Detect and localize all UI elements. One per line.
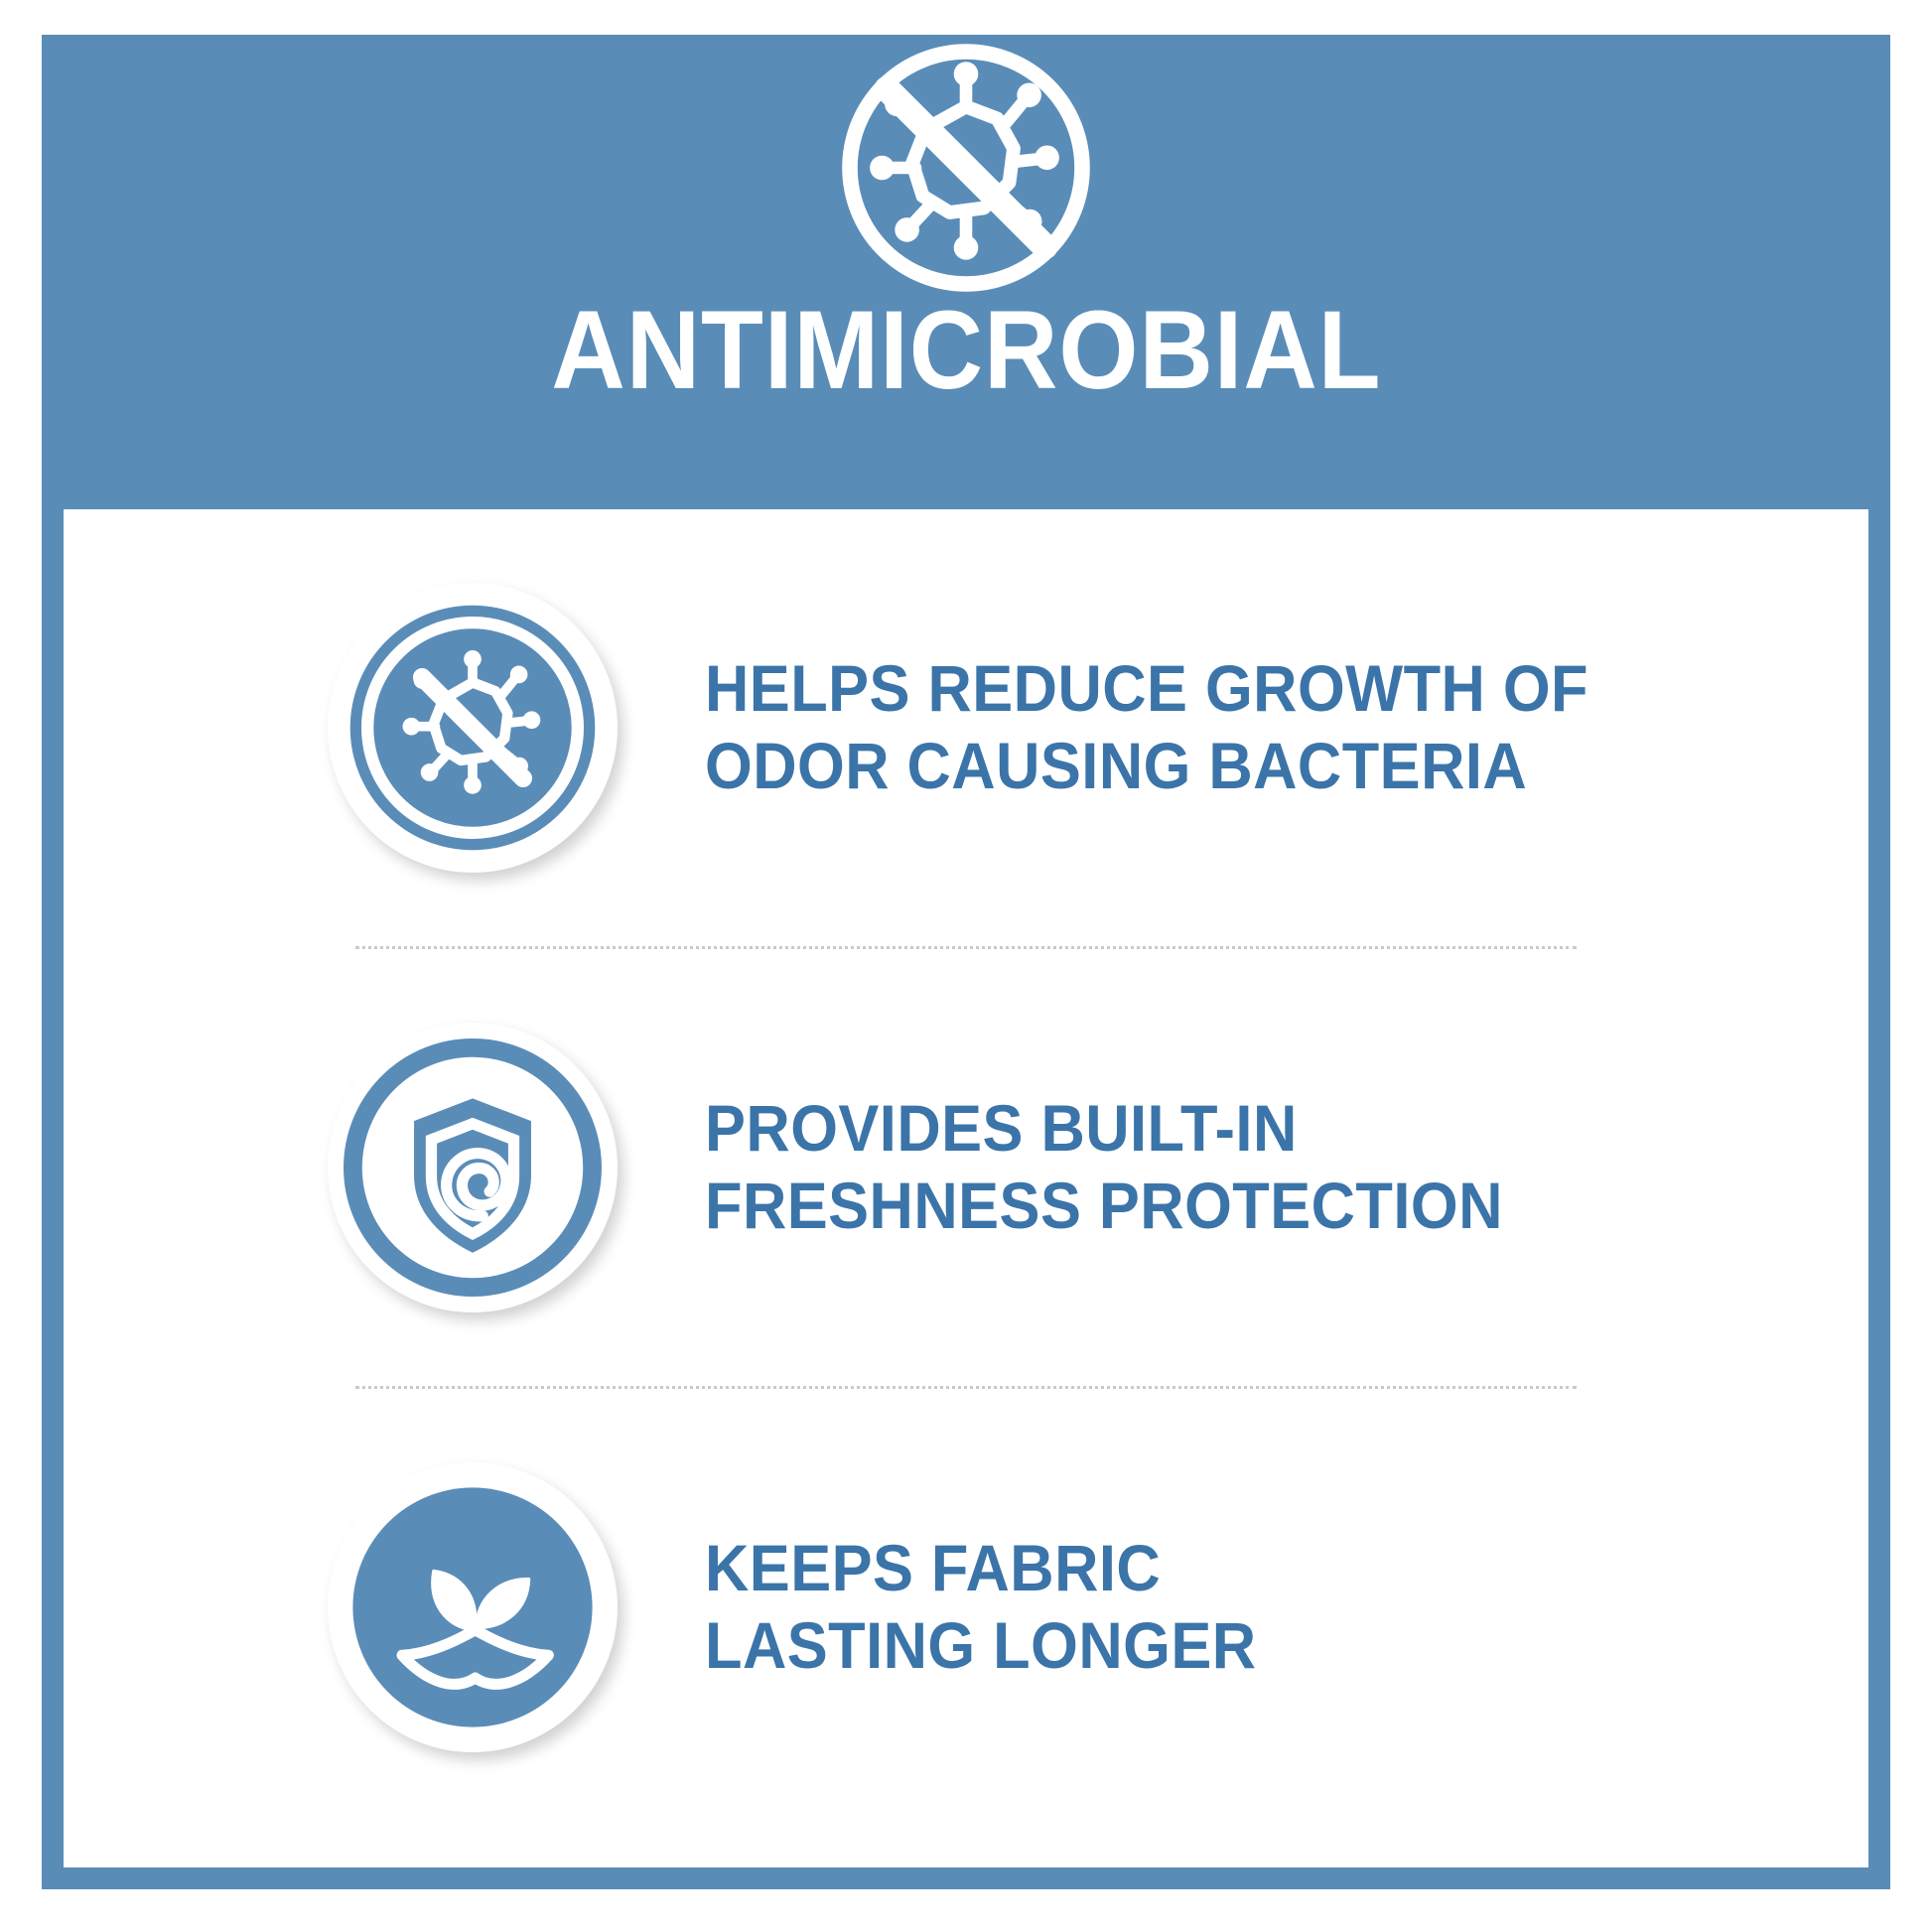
feature-text: PROVIDES BUILT-IN FRESHNESS PROTECTION [705, 1090, 1503, 1245]
feature-text-line-1: KEEPS FABRIC [705, 1530, 1257, 1607]
shield-swirl-icon [340, 1035, 606, 1301]
feature-text: KEEPS FABRIC LASTING LONGER [705, 1530, 1257, 1685]
feature-icon-badge [328, 583, 618, 873]
no-germ-icon [340, 595, 606, 861]
feature-row: PROVIDES BUILT-IN FRESHNESS PROTECTION [81, 949, 1851, 1386]
feature-icon-badge [328, 1023, 618, 1312]
feature-list: HELPS REDUCE GROWTH OF ODOR CAUSING BACT… [64, 509, 1868, 1867]
poster-header: ANTIMICROBIAL [42, 35, 1890, 509]
feature-text-line-2: ODOR CAUSING BACTERIA [705, 728, 1588, 805]
feature-text-line-2: LASTING LONGER [705, 1607, 1257, 1685]
feature-text: HELPS REDUCE GROWTH OF ODOR CAUSING BACT… [705, 650, 1588, 805]
feature-row: KEEPS FABRIC LASTING LONGER [81, 1389, 1851, 1826]
leaf-sprout-icon [340, 1474, 606, 1740]
antimicrobial-poster: ANTIMICROBIAL [42, 35, 1890, 1889]
feature-text-line-1: HELPS REDUCE GROWTH OF [705, 650, 1588, 728]
feature-text-line-2: FRESHNESS PROTECTION [705, 1168, 1503, 1245]
no-germ-icon [817, 19, 1115, 317]
feature-text-line-1: PROVIDES BUILT-IN [705, 1090, 1503, 1168]
page-title: ANTIMICROBIAL [551, 295, 1381, 406]
feature-row: HELPS REDUCE GROWTH OF ODOR CAUSING BACT… [81, 509, 1851, 946]
feature-icon-badge [328, 1462, 618, 1752]
